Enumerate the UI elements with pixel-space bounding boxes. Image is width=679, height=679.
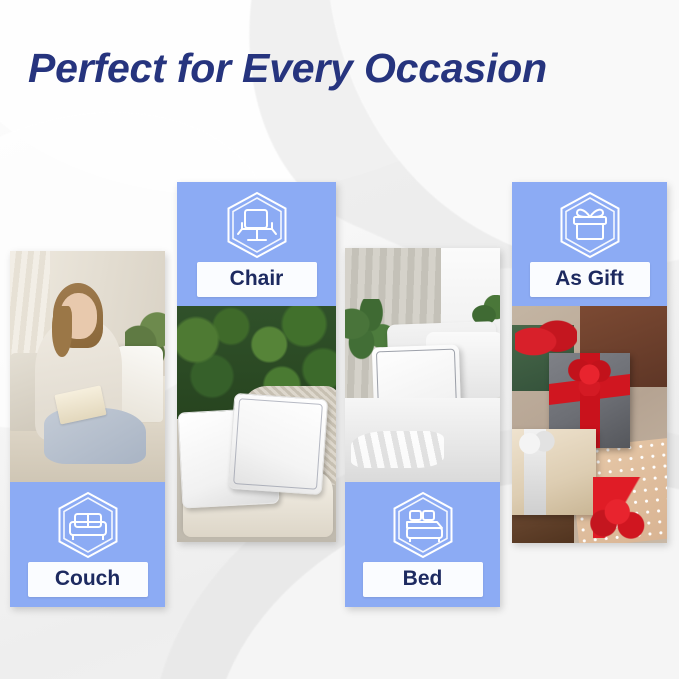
- occasion-card-chair[interactable]: Chair: [177, 182, 336, 542]
- gift-icon: [553, 190, 627, 260]
- chair-photo: [177, 306, 336, 542]
- page-title: Perfect for Every Occasion: [28, 46, 547, 90]
- bed-photo: [345, 248, 500, 482]
- bed-tag: Bed: [345, 482, 500, 607]
- chair-tag: Chair: [177, 182, 336, 306]
- gift-label: As Gift: [530, 262, 650, 297]
- occasion-card-gift[interactable]: As Gift: [512, 182, 667, 543]
- chair-icon: [220, 190, 294, 260]
- marketing-banner: Perfect for Every Occasion: [0, 0, 679, 679]
- gift-tag: As Gift: [512, 182, 667, 306]
- occasion-card-couch[interactable]: Couch: [10, 251, 165, 607]
- chair-label: Chair: [197, 262, 317, 297]
- couch-tag: Couch: [10, 482, 165, 607]
- occasion-card-bed[interactable]: Bed: [345, 248, 500, 607]
- sofa-icon: [51, 490, 125, 560]
- couch-label: Couch: [28, 562, 148, 597]
- couch-photo: [10, 251, 165, 482]
- bed-label: Bed: [363, 562, 483, 597]
- gift-photo: [512, 306, 667, 543]
- bed-icon: [386, 490, 460, 560]
